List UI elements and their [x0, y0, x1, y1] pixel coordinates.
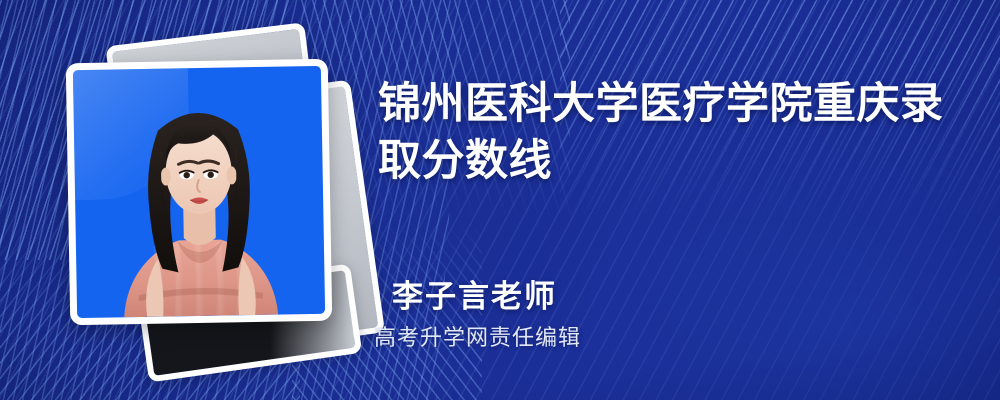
author-name: 李子言老师 [392, 271, 557, 316]
author-photo-frame [66, 59, 333, 326]
banner-text-column: 锦州医科大学医疗学院重庆录取分数线 李子言老师 高考升学网责任编辑 [374, 0, 974, 400]
article-header-banner: 锦州医科大学医疗学院重庆录取分数线 李子言老师 高考升学网责任编辑 [0, 0, 1000, 400]
author-photo [73, 66, 325, 318]
author-photo-stack [52, 28, 382, 373]
page-title: 锦州医科大学医疗学院重庆录取分数线 [378, 76, 958, 190]
author-portrait-illustration [73, 66, 325, 318]
author-role: 高考升学网责任编辑 [374, 320, 581, 352]
